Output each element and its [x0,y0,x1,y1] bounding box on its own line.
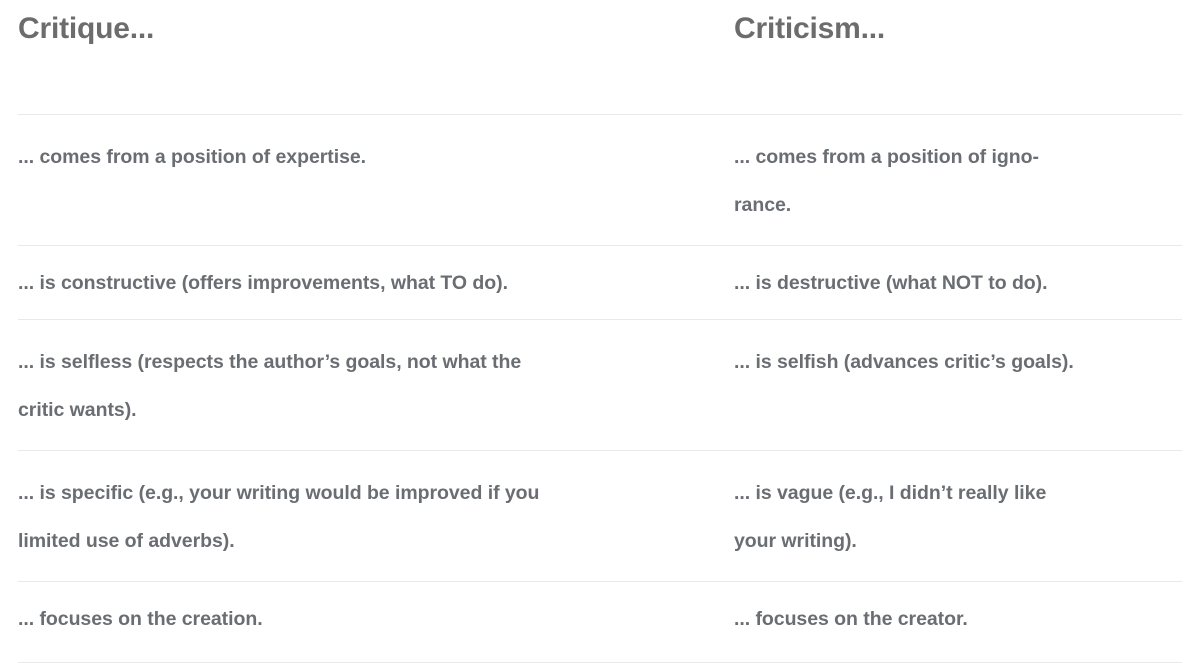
table-cell-critique: ... is selfless (respects the author’s g… [18,320,734,450]
cell-text-criticism-line-1: ... comes from a position of igno- [734,146,1039,168]
table-cell-critique: ... is constructive (offers improvements… [18,246,734,319]
cell-text-critique: ... focuses on the creation. [18,608,263,630]
table-cell-critique: ... comes from a position of expertise. [18,115,734,197]
column-header-criticism: Criticism... [734,12,885,45]
cell-text-criticism: ... is destructive (what NOT to do). [734,272,1047,294]
table-row: ... comes from a position of expertise. … [18,115,1182,246]
table-cell-critique: ... is specific (e.g., your writing woul… [18,451,734,581]
critique-vs-criticism-table: Critique... Criticism... ... comes from … [0,0,1200,663]
cell-text-criticism: ... comes from a position of igno- rance… [734,133,1154,229]
cell-text-critique: ... comes from a position of expertise. [18,133,708,181]
table-cell-criticism: ... is vague (e.g., I didn’t really like… [734,451,1182,581]
table-row: ... is specific (e.g., your writing woul… [18,451,1182,582]
cell-text-criticism: ... is vague (e.g., I didn’t really like… [734,469,1154,565]
cell-text-criticism: ... is selfish (advances critic’s goals)… [734,351,1074,373]
table-row: ... focuses on the creation. ... focuses… [18,582,1182,663]
cell-text-critique: ... is specific (e.g., your writing woul… [18,469,708,565]
cell-text-critique: ... is selfless (respects the author’s g… [18,338,708,434]
table-header-cell-criticism: Criticism... [734,0,1182,48]
table-header-cell-critique: Critique... [18,0,734,48]
table-cell-criticism: ... is selfish (advances critic’s goals)… [734,320,1182,402]
cell-text-critique-line-1: ... is specific (e.g., your writing woul… [18,482,539,504]
cell-text-criticism-line-2: your writing). [734,530,857,552]
cell-text-critique-line-1: ... is selfless (respects the author’s g… [18,351,521,373]
cell-text-criticism: ... focuses on the creator. [734,608,968,630]
column-header-critique: Critique... [18,12,154,45]
cell-text-critique: ... is constructive (offers improvements… [18,272,508,294]
table-header-row: Critique... Criticism... [18,0,1182,115]
cell-text-criticism-line-2: rance. [734,194,791,216]
cell-text-critique-line-2: limited use of adverbs). [18,530,235,552]
table-cell-criticism: ... is destructive (what NOT to do). [734,246,1182,319]
cell-text-critique-line-2: critic wants). [18,399,137,421]
table-cell-criticism: ... comes from a position of igno- rance… [734,115,1182,245]
table-cell-critique: ... focuses on the creation. [18,582,734,655]
table-cell-criticism: ... focuses on the creator. [734,582,1182,655]
cell-text-criticism-line-1: ... is vague (e.g., I didn’t really like [734,482,1046,504]
table-row: ... is constructive (offers improvements… [18,246,1182,320]
table-row: ... is selfless (respects the author’s g… [18,320,1182,451]
